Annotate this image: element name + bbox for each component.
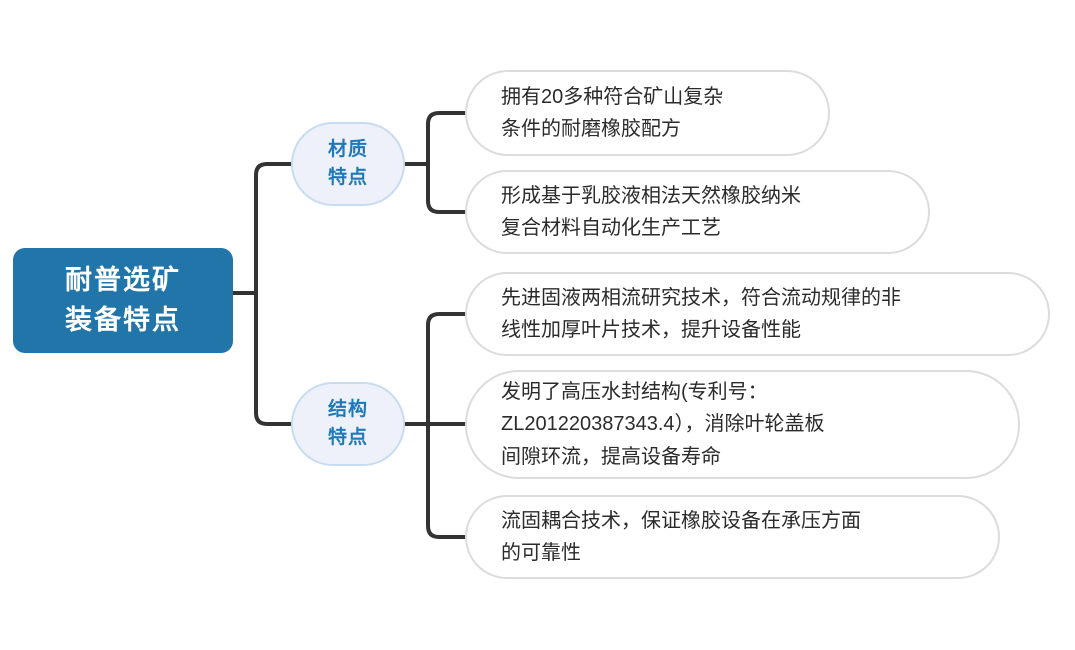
connector-root-to-structure [256, 293, 291, 424]
connector-structure-to-leaf-3 [428, 314, 465, 424]
leaf-4-line2: ZL201220387343.4），消除叶轮盖板 [501, 408, 992, 440]
root-label-line1: 耐普选矿 [65, 261, 181, 300]
leaf-2-line2: 复合材料自动化生产工艺 [501, 212, 902, 244]
leaf-4-line1: 发明了高压水封结构(专利号： [501, 376, 992, 408]
connector-material-to-leaf-2 [428, 164, 465, 212]
branch-material-label-line1: 材质 [328, 136, 368, 164]
leaf-1-line2: 条件的耐磨橡胶配方 [501, 113, 802, 145]
branch-structure-label-line2: 特点 [328, 424, 368, 452]
branch-node-material[interactable]: 材质 特点 [291, 122, 405, 206]
branch-material-label-line2: 特点 [328, 164, 368, 192]
leaf-5-line1: 流固耦合技术，保证橡胶设备在承压方面 [501, 505, 972, 537]
connector-root-to-material [256, 164, 291, 293]
leaf-3-line1: 先进固液两相流研究技术，符合流动规律的非 [501, 282, 1022, 314]
branch-node-structure[interactable]: 结构 特点 [291, 382, 405, 466]
branch-structure-label-line1: 结构 [328, 396, 368, 424]
mindmap-canvas: 耐普选矿 装备特点 材质 特点 结构 特点 拥有20多种符合矿山复杂 条件的耐磨… [0, 0, 1075, 650]
leaf-5-line2: 的可靠性 [501, 537, 972, 569]
root-label-line2: 装备特点 [65, 301, 181, 340]
leaf-node-material-1[interactable]: 拥有20多种符合矿山复杂 条件的耐磨橡胶配方 [465, 70, 830, 156]
root-node[interactable]: 耐普选矿 装备特点 [13, 248, 233, 353]
leaf-4-line3: 间隙环流，提高设备寿命 [501, 441, 992, 473]
leaf-node-structure-2[interactable]: 发明了高压水封结构(专利号： ZL201220387343.4），消除叶轮盖板 … [465, 370, 1020, 479]
connector-structure-to-leaf-5 [428, 424, 465, 537]
leaf-node-structure-3[interactable]: 流固耦合技术，保证橡胶设备在承压方面 的可靠性 [465, 495, 1000, 579]
leaf-2-line1: 形成基于乳胶液相法天然橡胶纳米 [501, 180, 902, 212]
connector-material-to-leaf-1 [428, 113, 465, 164]
leaf-node-structure-1[interactable]: 先进固液两相流研究技术，符合流动规律的非 线性加厚叶片技术，提升设备性能 [465, 272, 1050, 356]
leaf-node-material-2[interactable]: 形成基于乳胶液相法天然橡胶纳米 复合材料自动化生产工艺 [465, 170, 930, 254]
leaf-3-line2: 线性加厚叶片技术，提升设备性能 [501, 314, 1022, 346]
leaf-1-line1: 拥有20多种符合矿山复杂 [501, 81, 802, 113]
